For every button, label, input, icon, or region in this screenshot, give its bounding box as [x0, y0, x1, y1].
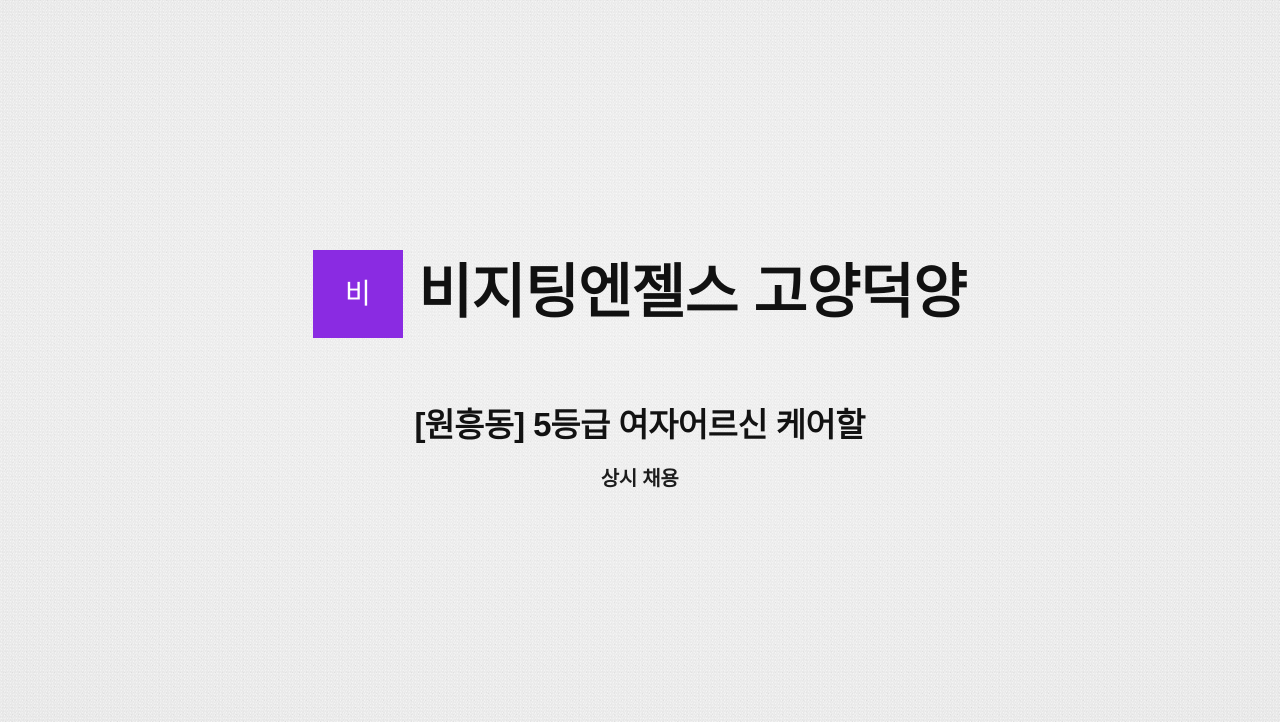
job-title: [원흥동] 5등급 여자어르신 케어할: [0, 404, 1280, 447]
job-posting-card: 비 비지팅엔젤스 고양덕양 [원흥동] 5등급 여자어르신 케어할 상시 채용: [0, 0, 1280, 722]
card-content: 비 비지팅엔젤스 고양덕양 [원흥동] 5등급 여자어르신 케어할 상시 채용: [0, 0, 1280, 722]
company-header: 비 비지팅엔젤스 고양덕양: [0, 250, 1280, 338]
company-name: 비지팅엔젤스 고양덕양: [419, 263, 967, 326]
company-logo-icon: 비: [313, 250, 403, 338]
recruitment-status-badge: 상시 채용: [0, 466, 1280, 492]
